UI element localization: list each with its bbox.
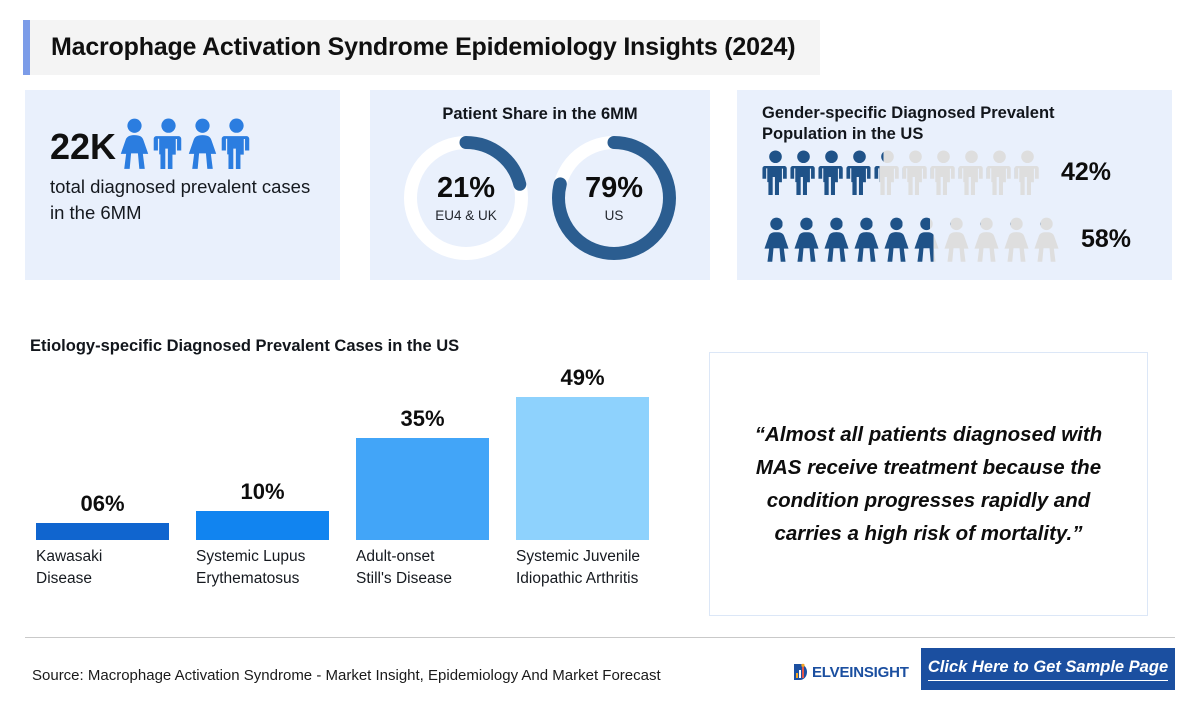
bar-value-label: 35% (356, 406, 489, 432)
gender-split-title: Gender-specific Diagnosed Prevalent Popu… (762, 103, 1122, 145)
person-male-icon (846, 150, 873, 195)
total-cases-row: 22K (50, 118, 252, 169)
person-female-icon (792, 217, 821, 262)
person-male-icon (762, 150, 789, 195)
person-male-icon (986, 150, 1013, 195)
person-female-icon (972, 217, 1001, 262)
header-banner: Macrophage Activation Syndrome Epidemiol… (23, 20, 820, 75)
person-female-icon (822, 217, 851, 262)
person-male-icon (818, 150, 845, 195)
person-female-icon (882, 217, 911, 262)
bar-group: 49%Systemic JuvenileIdiopathic Arthritis (516, 397, 649, 540)
person-female-icon (942, 217, 971, 262)
bar-category-label: Systemic JuvenileIdiopathic Arthritis (516, 546, 649, 590)
card-patient-share: Patient Share in the 6MM 21%EU4 & UK79%U… (370, 90, 710, 280)
bar-category-label: Adult-onsetStill's Disease (356, 546, 489, 590)
get-sample-page-button[interactable]: Click Here to Get Sample Page (921, 648, 1175, 690)
delveinsight-logo: ELVEINSIGHT (793, 663, 909, 682)
person-female-icon (852, 217, 881, 262)
logo-wordmark: ELVEINSIGHT (812, 664, 909, 681)
person-male-icon (790, 150, 817, 195)
donut-label: EU4 & UK (435, 208, 497, 223)
person-male-icon (221, 118, 252, 169)
person-female-icon (912, 217, 941, 262)
bar-rect (356, 438, 489, 540)
donut-label: US (605, 208, 624, 223)
person-female-icon (1032, 217, 1061, 262)
bar-value-label: 10% (196, 479, 329, 505)
person-female-icon (762, 217, 791, 262)
male-icon-strip (762, 150, 1041, 195)
card-total-cases: 22K total diagnosed prevalent cases in t… (25, 90, 340, 280)
male-percent: 42% (1061, 158, 1111, 187)
bar-chart-title: Etiology-specific Diagnosed Prevalent Ca… (30, 337, 459, 356)
donut-center-2: 79%US (552, 136, 676, 260)
bar-rect (196, 511, 329, 540)
person-male-icon (153, 118, 184, 169)
bar-rect (36, 523, 169, 540)
card-gender-split: Gender-specific Diagnosed Prevalent Popu… (737, 90, 1172, 280)
quote-text: “Almost all patients diagnosed with MAS … (744, 418, 1114, 551)
footer-divider (25, 637, 1175, 638)
bar-rect (516, 397, 649, 540)
person-male-icon (958, 150, 985, 195)
header-accent-bar (23, 20, 30, 75)
total-cases-caption: total diagnosed prevalent cases in the 6… (50, 174, 325, 227)
bar-group: 10%Systemic LupusErythematosus (196, 511, 329, 540)
person-male-icon (930, 150, 957, 195)
person-male-icon (1014, 150, 1041, 195)
donut-chart-group: 21%EU4 & UK79%US (370, 136, 710, 260)
female-icon-strip (762, 217, 1061, 262)
page-title: Macrophage Activation Syndrome Epidemiol… (51, 33, 795, 62)
female-percent: 58% (1081, 225, 1131, 254)
bar-category-label: KawasakiDisease (36, 546, 169, 590)
total-cases-value: 22K (50, 129, 116, 165)
person-female-icon (1002, 217, 1031, 262)
person-male-icon (902, 150, 929, 195)
infographic-page: Macrophage Activation Syndrome Epidemiol… (0, 0, 1200, 714)
total-people-icon-group (118, 118, 252, 169)
patient-share-title: Patient Share in the 6MM (370, 104, 710, 125)
donut-center-1: 21%EU4 & UK (404, 136, 528, 260)
bar-group: 06%KawasakiDisease (36, 523, 169, 540)
logo-bars-icon (793, 663, 810, 682)
donut-percent: 21% (437, 174, 495, 203)
donut-chart-2: 79%US (552, 136, 676, 260)
donut-percent: 79% (585, 174, 643, 203)
source-text: Source: Macrophage Activation Syndrome -… (32, 667, 661, 684)
cta-label: Click Here to Get Sample Page (928, 658, 1168, 681)
gender-row-female: 58% (762, 217, 1131, 262)
gender-row-male: 42% (762, 150, 1111, 195)
person-male-icon (874, 150, 901, 195)
donut-chart-1: 21%EU4 & UK (404, 136, 528, 260)
bar-value-label: 49% (516, 365, 649, 391)
bar-chart: 06%KawasakiDisease10%Systemic LupusEryth… (28, 375, 688, 600)
bar-category-label: Systemic LupusErythematosus (196, 546, 329, 590)
person-female-icon (118, 118, 151, 169)
bar-group: 35%Adult-onsetStill's Disease (356, 438, 489, 540)
person-female-icon (186, 118, 219, 169)
quote-box: “Almost all patients diagnosed with MAS … (709, 352, 1148, 616)
bar-value-label: 06% (36, 491, 169, 517)
